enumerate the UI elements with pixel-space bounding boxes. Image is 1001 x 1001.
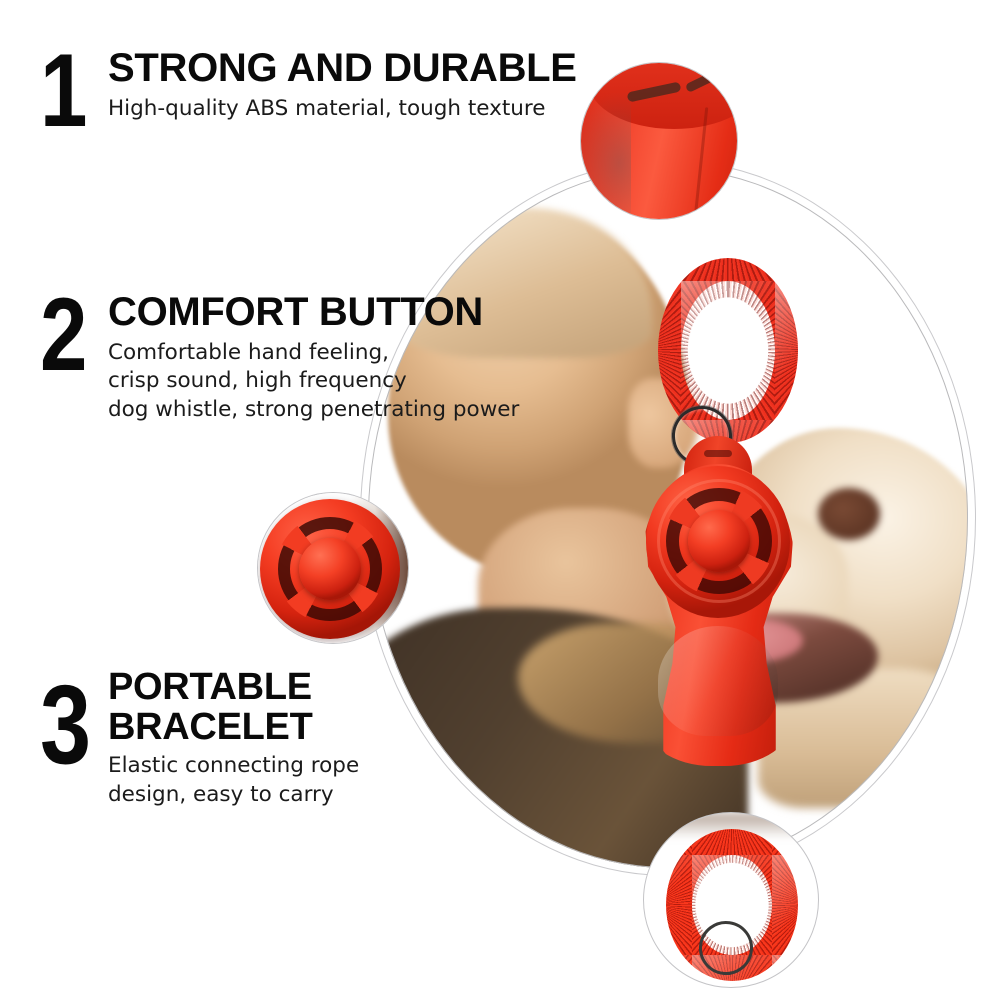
button-face-detail (278, 517, 382, 621)
feature-text-1: STRONG AND DURABLE High-quality ABS mate… (108, 48, 577, 123)
callout-button-closeup (257, 492, 409, 644)
feature-title-3-line-1: PORTABLE (108, 668, 359, 708)
feature-desc-line: High-quality ABS material, tough texture (108, 95, 577, 124)
main-product-clicker (620, 258, 820, 778)
feature-description-3: Elastic connecting rope design, easy to … (108, 752, 359, 810)
material-shadow (580, 93, 631, 220)
click-button-face (666, 488, 772, 594)
feature-desc-line: dog whistle, strong penetrating power (108, 396, 519, 425)
feature-number-1: 1 (40, 48, 94, 135)
feature-number-2: 2 (40, 292, 94, 379)
feature-text-3: PORTABLE BRACELET Elastic connecting rop… (108, 668, 359, 810)
button-center-dome-detail (299, 538, 361, 600)
feature-desc-line: crisp sound, high frequency (108, 367, 519, 396)
feature-title-3-line-2: BRACELET (108, 708, 359, 748)
feature-desc-line: Elastic connecting rope (108, 752, 359, 781)
feature-title-2: COMFORT BUTTON (108, 292, 519, 334)
feature-title-1: STRONG AND DURABLE (108, 48, 577, 90)
feature-block-1: 1 STRONG AND DURABLE High-quality ABS ma… (40, 48, 577, 135)
dog-eye (818, 488, 880, 540)
feature-description-2: Comfortable hand feeling, crisp sound, h… (108, 339, 519, 425)
feature-desc-line: Comfortable hand feeling, (108, 339, 519, 368)
feature-block-2: 2 COMFORT BUTTON Comfortable hand feelin… (40, 292, 519, 425)
callout-material-closeup (580, 62, 738, 220)
product-feature-infographic: 1 STRONG AND DURABLE High-quality ABS ma… (0, 0, 1001, 1001)
clicker-body (642, 436, 794, 766)
callout-bracelet-closeup (643, 812, 819, 988)
feature-number-3: 3 (40, 678, 94, 772)
feature-block-3: 3 PORTABLE BRACELET Elastic connecting r… (40, 668, 359, 810)
feature-description-1: High-quality ABS material, tough texture (108, 95, 577, 124)
button-center-dome (688, 510, 750, 572)
feature-text-2: COMFORT BUTTON Comfortable hand feeling,… (108, 292, 519, 425)
feature-desc-line: design, easy to carry (108, 781, 359, 810)
